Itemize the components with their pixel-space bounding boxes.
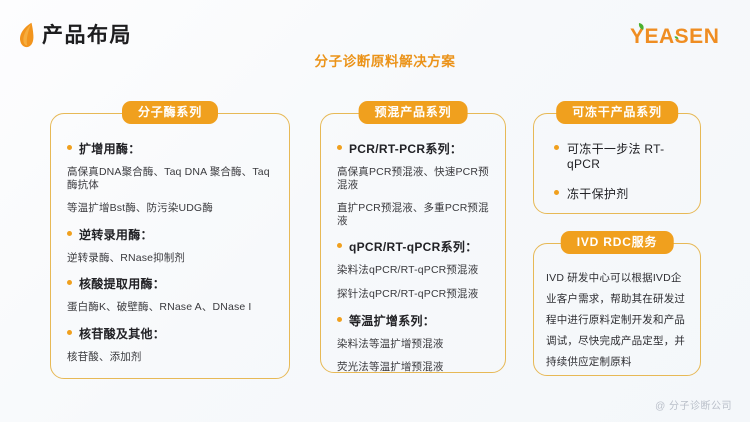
bullet-icon — [337, 243, 342, 248]
card-body: PCR/RT-PCR系列： 高保真PCR预混液、快速PCR预混液 直扩PCR预混… — [321, 114, 505, 395]
group-heading: 扩增用酶： — [67, 140, 275, 157]
card-premix-products: 预混产品系列 PCR/RT-PCR系列： 高保真PCR预混液、快速PCR预混液 … — [320, 113, 506, 373]
group-line: 等温扩增Bst酶、防污染UDG酶 — [67, 202, 275, 215]
card-title-ivd-rdc-service: IVD RDC服务 — [561, 231, 674, 254]
group-line: 荧光法等温扩增预混液 — [337, 361, 491, 374]
group-reverse-transcription: 逆转录用酶： 逆转录酶、RNase抑制剂 — [65, 226, 275, 265]
group-heading: 核酸提取用酶： — [67, 275, 275, 292]
card-title-molecular-enzyme: 分子酶系列 — [122, 101, 218, 124]
group-heading: qPCR/RT-qPCR系列： — [337, 238, 491, 255]
group-heading: 逆转录用酶： — [67, 226, 275, 243]
list-item: 可冻干一步法 RT-qPCR — [554, 140, 686, 171]
subtitle: 分子诊断原料解决方案 — [0, 50, 750, 70]
group-pcr-rtpcr: PCR/RT-PCR系列： 高保真PCR预混液、快速PCR预混液 直扩PCR预混… — [335, 140, 491, 227]
bullet-icon — [67, 145, 72, 150]
group-line: 蛋白酶K、破壁酶、RNase A、DNase I — [67, 301, 275, 314]
card-title-premix-products: 预混产品系列 — [359, 101, 468, 124]
card-ivd-rdc-service: IVD RDC服务 IVD 研发中心可以根据IVD企业客户需求，帮助其在研发过程… — [533, 243, 701, 376]
list-item-label: 可冻干一步法 RT-qPCR — [567, 140, 686, 171]
group-heading-text: 核酸提取用酶： — [79, 275, 165, 292]
list-item: 冻干保护剂 — [554, 185, 686, 202]
group-line: 高保真DNA聚合酶、Taq DNA 聚合酶、Taq酶抗体 — [67, 166, 275, 191]
group-heading-text: PCR/RT-PCR系列： — [349, 140, 462, 157]
group-isothermal-amplification: 等温扩增系列： 染料法等温扩增预混液 荧光法等温扩增预混液 — [335, 312, 491, 374]
group-line: 探针法qPCR/RT-qPCR预混液 — [337, 288, 491, 301]
group-qpcr-rtqpcr: qPCR/RT-qPCR系列： 染料法qPCR/RT-qPCR预混液 探针法qP… — [335, 238, 491, 300]
bullet-icon — [67, 231, 72, 236]
bullet-icon — [554, 190, 559, 195]
leaf-icon — [18, 22, 35, 48]
group-line: 高保真PCR预混液、快速PCR预混液 — [337, 166, 491, 191]
group-amplification: 扩增用酶： 高保真DNA聚合酶、Taq DNA 聚合酶、Taq酶抗体 等温扩增B… — [65, 140, 275, 215]
bullet-icon — [337, 145, 342, 150]
card-body: 扩增用酶： 高保真DNA聚合酶、Taq DNA 聚合酶、Taq酶抗体 等温扩增B… — [51, 114, 289, 385]
bullet-icon — [554, 145, 559, 150]
group-heading-text: 核苷酸及其他： — [79, 325, 165, 342]
bullet-icon — [67, 330, 72, 335]
group-line: 逆转录酶、RNase抑制剂 — [67, 252, 275, 265]
bullet-icon — [337, 317, 342, 322]
page-title: 产品布局 — [18, 22, 132, 48]
watermark: @ 分子诊断公司 — [655, 397, 732, 412]
brand-logo: YEASEN — [630, 22, 732, 48]
slide-root: 产品布局 YEASEN 分子诊断原料解决方案 分子酶系列 扩增用酶： 高保真DN… — [0, 0, 750, 422]
subtitle-text: 分子诊断原料解决方案 — [295, 50, 456, 70]
group-heading: PCR/RT-PCR系列： — [337, 140, 491, 157]
group-heading-text: 等温扩增系列： — [349, 312, 435, 329]
card-lyophilized-products: 可冻干产品系列 可冻干一步法 RT-qPCR 冻干保护剂 — [533, 113, 701, 214]
group-line: 染料法qPCR/RT-qPCR预混液 — [337, 264, 491, 277]
group-heading: 等温扩增系列： — [337, 312, 491, 329]
group-line: 直扩PCR预混液、多重PCR预混液 — [337, 202, 491, 227]
group-nucleic-acid-extraction: 核酸提取用酶： 蛋白酶K、破壁酶、RNase A、DNase I — [65, 275, 275, 314]
bullet-icon — [67, 280, 72, 285]
group-heading-text: qPCR/RT-qPCR系列： — [349, 238, 478, 255]
group-nucleotides-other: 核苷酸及其他： 核苷酸、添加剂 — [65, 325, 275, 364]
card-title-lyophilized-products: 可冻干产品系列 — [556, 101, 678, 124]
page-title-text: 产品布局 — [42, 25, 132, 46]
group-heading: 核苷酸及其他： — [67, 325, 275, 342]
card-molecular-enzyme: 分子酶系列 扩增用酶： 高保真DNA聚合酶、Taq DNA 聚合酶、Taq酶抗体… — [50, 113, 290, 379]
card-body: IVD 研发中心可以根据IVD企业客户需求，帮助其在研发过程中进行原料定制开发和… — [534, 244, 700, 381]
group-heading-text: 逆转录用酶： — [79, 226, 153, 243]
group-heading-text: 扩增用酶： — [79, 140, 141, 157]
list-item-label: 冻干保护剂 — [567, 185, 629, 202]
card-body: 可冻干一步法 RT-qPCR 冻干保护剂 — [534, 114, 700, 226]
group-line: 染料法等温扩增预混液 — [337, 338, 491, 351]
group-line: 核苷酸、添加剂 — [67, 351, 275, 364]
ivd-description: IVD 研发中心可以根据IVD企业客户需求，帮助其在研发过程中进行原料定制开发和… — [542, 268, 692, 373]
